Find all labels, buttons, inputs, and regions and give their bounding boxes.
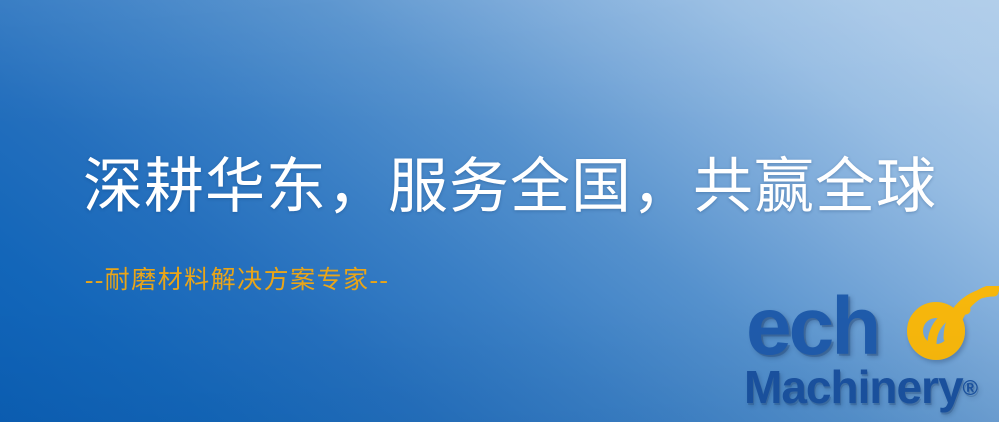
banner-headline: 深耕华东，服务全国，共赢全球 [83,152,937,222]
logo-echo-text: ech [746,286,878,368]
logo-machinery-text: Machinery® [744,364,978,412]
echo-machinery-logo: ech Machinery® [742,292,994,418]
logo-machinery-label: Machinery [744,361,963,413]
logo-wordmark: ech [742,292,994,368]
promo-banner: 深耕华东，服务全国，共赢全球 --耐磨材料解决方案专家-- ech Machin… [0,0,999,422]
signal-waves-icon [924,286,999,352]
banner-subtitle: --耐磨材料解决方案专家-- [85,265,389,297]
registered-trademark-icon: ® [963,377,978,400]
